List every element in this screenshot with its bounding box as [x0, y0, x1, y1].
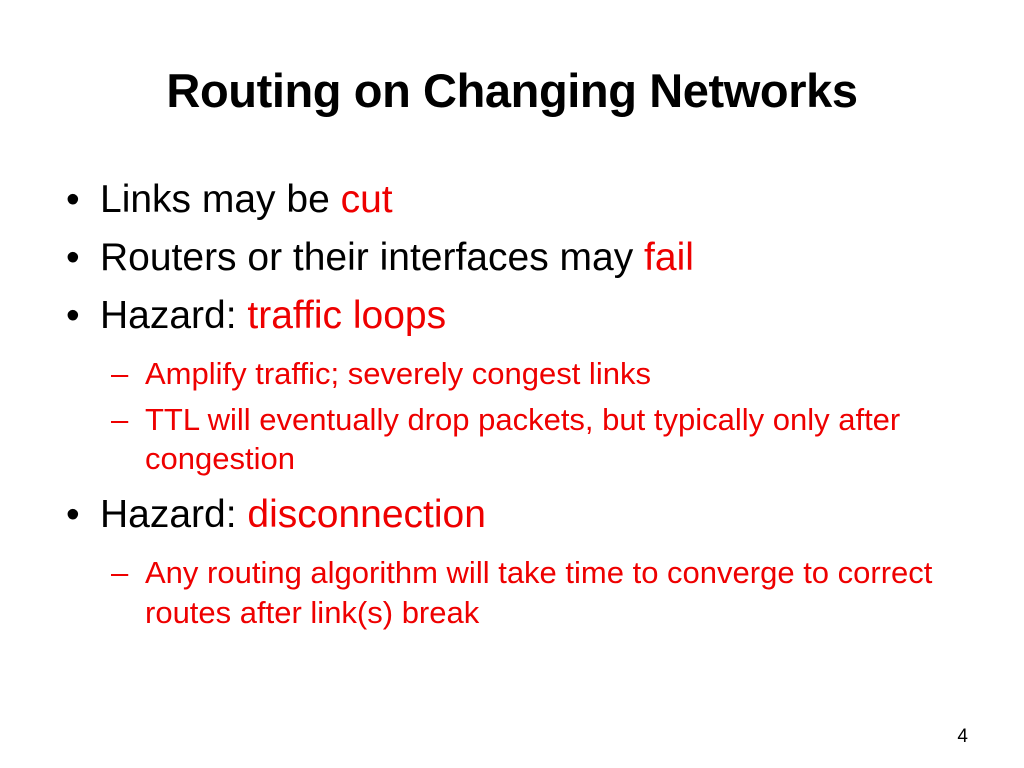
bullet-item-hazard-disconnection: • Hazard: disconnection	[60, 495, 980, 534]
bullet-text-lead: Hazard:	[100, 493, 247, 536]
bullet-text-emphasis: fail	[644, 236, 694, 279]
sub-bullet-dash-icon: –	[111, 400, 128, 440]
bullet-item-routers-may-fail: • Routers or their interfaces may fail	[60, 238, 980, 277]
bullet-item-links-may-be-cut: • Links may be cut	[60, 180, 980, 219]
presentation-slide: Routing on Changing Networks • Links may…	[0, 0, 1024, 768]
sub-bullet-dash-icon: –	[111, 553, 128, 593]
sub-bullet-ttl-drop-packets: – TTL will eventually drop packets, but …	[60, 400, 980, 479]
sub-bullet-text: Any routing algorithm will take time to …	[145, 555, 932, 630]
slide-body: • Links may be cut • Routers or their in…	[60, 180, 980, 638]
sub-bullet-text: TTL will eventually drop packets, but ty…	[145, 402, 900, 477]
bullet-text-emphasis: traffic loops	[247, 294, 446, 337]
bullet-item-hazard-traffic-loops: • Hazard: traffic loops	[60, 296, 980, 335]
bullet-dot-icon: •	[66, 296, 80, 335]
bullet-text-emphasis: disconnection	[247, 493, 486, 536]
bullet-text-lead: Links may be	[100, 178, 341, 221]
bullet-dot-icon: •	[66, 495, 80, 534]
bullet-dot-icon: •	[66, 180, 80, 219]
bullet-text-lead: Hazard:	[100, 294, 247, 337]
page-number: 4	[957, 727, 968, 746]
page-title: Routing on Changing Networks	[0, 66, 1024, 116]
bullet-text-emphasis: cut	[341, 178, 393, 221]
bullet-text-lead: Routers or their interfaces may	[100, 236, 644, 279]
bullet-dot-icon: •	[66, 238, 80, 277]
sub-bullet-convergence-time: – Any routing algorithm will take time t…	[60, 553, 980, 632]
sub-bullet-amplify-traffic: – Amplify traffic; severely congest link…	[60, 354, 980, 394]
sub-bullet-text: Amplify traffic; severely congest links	[145, 356, 651, 391]
sub-bullet-dash-icon: –	[111, 354, 128, 394]
